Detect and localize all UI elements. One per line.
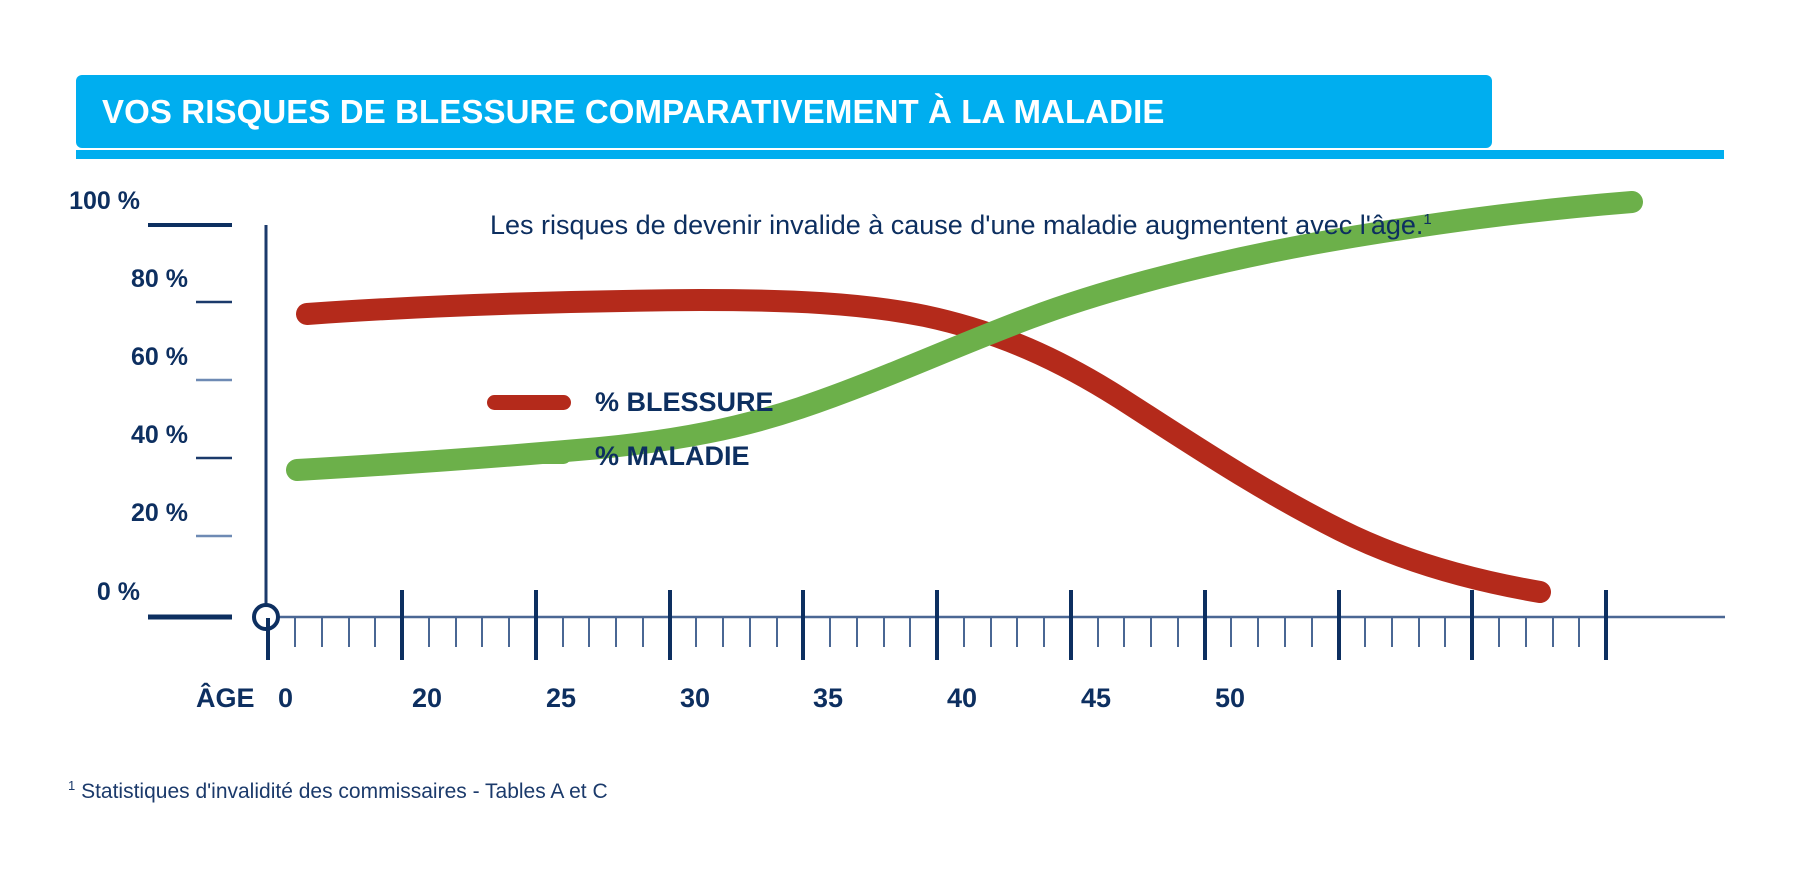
y-tick-label-60: 60 % xyxy=(20,343,188,372)
x-axis-title: ÂGE xyxy=(196,683,255,714)
chart-subtitle-text: Les risques de devenir invalide à cause … xyxy=(490,210,1423,240)
chart-legend: % BLESSURE % MALADIE xyxy=(487,375,774,483)
footnote-marker: 1 xyxy=(68,778,75,793)
x-tick-label-40: 40 xyxy=(947,683,977,714)
y-tick-label-40: 40 % xyxy=(20,421,188,450)
legend-swatch-blessure xyxy=(487,395,571,410)
legend-item-blessure[interactable]: % BLESSURE xyxy=(487,375,774,429)
x-tick-label-0: 0 xyxy=(278,683,293,714)
y-tick-label-0: 0 % xyxy=(20,578,140,607)
legend-swatch-maladie xyxy=(487,449,571,464)
legend-label-maladie: % MALADIE xyxy=(595,441,750,472)
legend-label-blessure: % BLESSURE xyxy=(595,387,774,418)
x-major-ticks xyxy=(268,590,1606,660)
footnote: 1 Statistiques d'invalidité des commissa… xyxy=(68,778,608,804)
footnote-text: Statistiques d'invalidité des commissair… xyxy=(81,780,608,803)
x-tick-label-20: 20 xyxy=(412,683,442,714)
x-tick-label-30: 30 xyxy=(680,683,710,714)
y-tick-label-100: 100 % xyxy=(20,187,140,216)
chart-subtitle-footnote-marker: 1 xyxy=(1423,211,1431,228)
title-banner: VOS RISQUES DE BLESSURE COMPARATIVEMENT … xyxy=(76,75,1492,148)
y-tick-label-80: 80 % xyxy=(20,265,188,294)
x-tick-label-50: 50 xyxy=(1215,683,1245,714)
y-tick-label-20: 20 % xyxy=(20,499,188,528)
x-tick-label-35: 35 xyxy=(813,683,843,714)
x-tick-label-25: 25 xyxy=(546,683,576,714)
title-underline-bar xyxy=(76,150,1724,159)
chart-subtitle: Les risques de devenir invalide à cause … xyxy=(490,210,1432,241)
page-title: VOS RISQUES DE BLESSURE COMPARATIVEMENT … xyxy=(76,93,1165,131)
legend-item-maladie[interactable]: % MALADIE xyxy=(487,429,774,483)
x-tick-label-45: 45 xyxy=(1081,683,1111,714)
